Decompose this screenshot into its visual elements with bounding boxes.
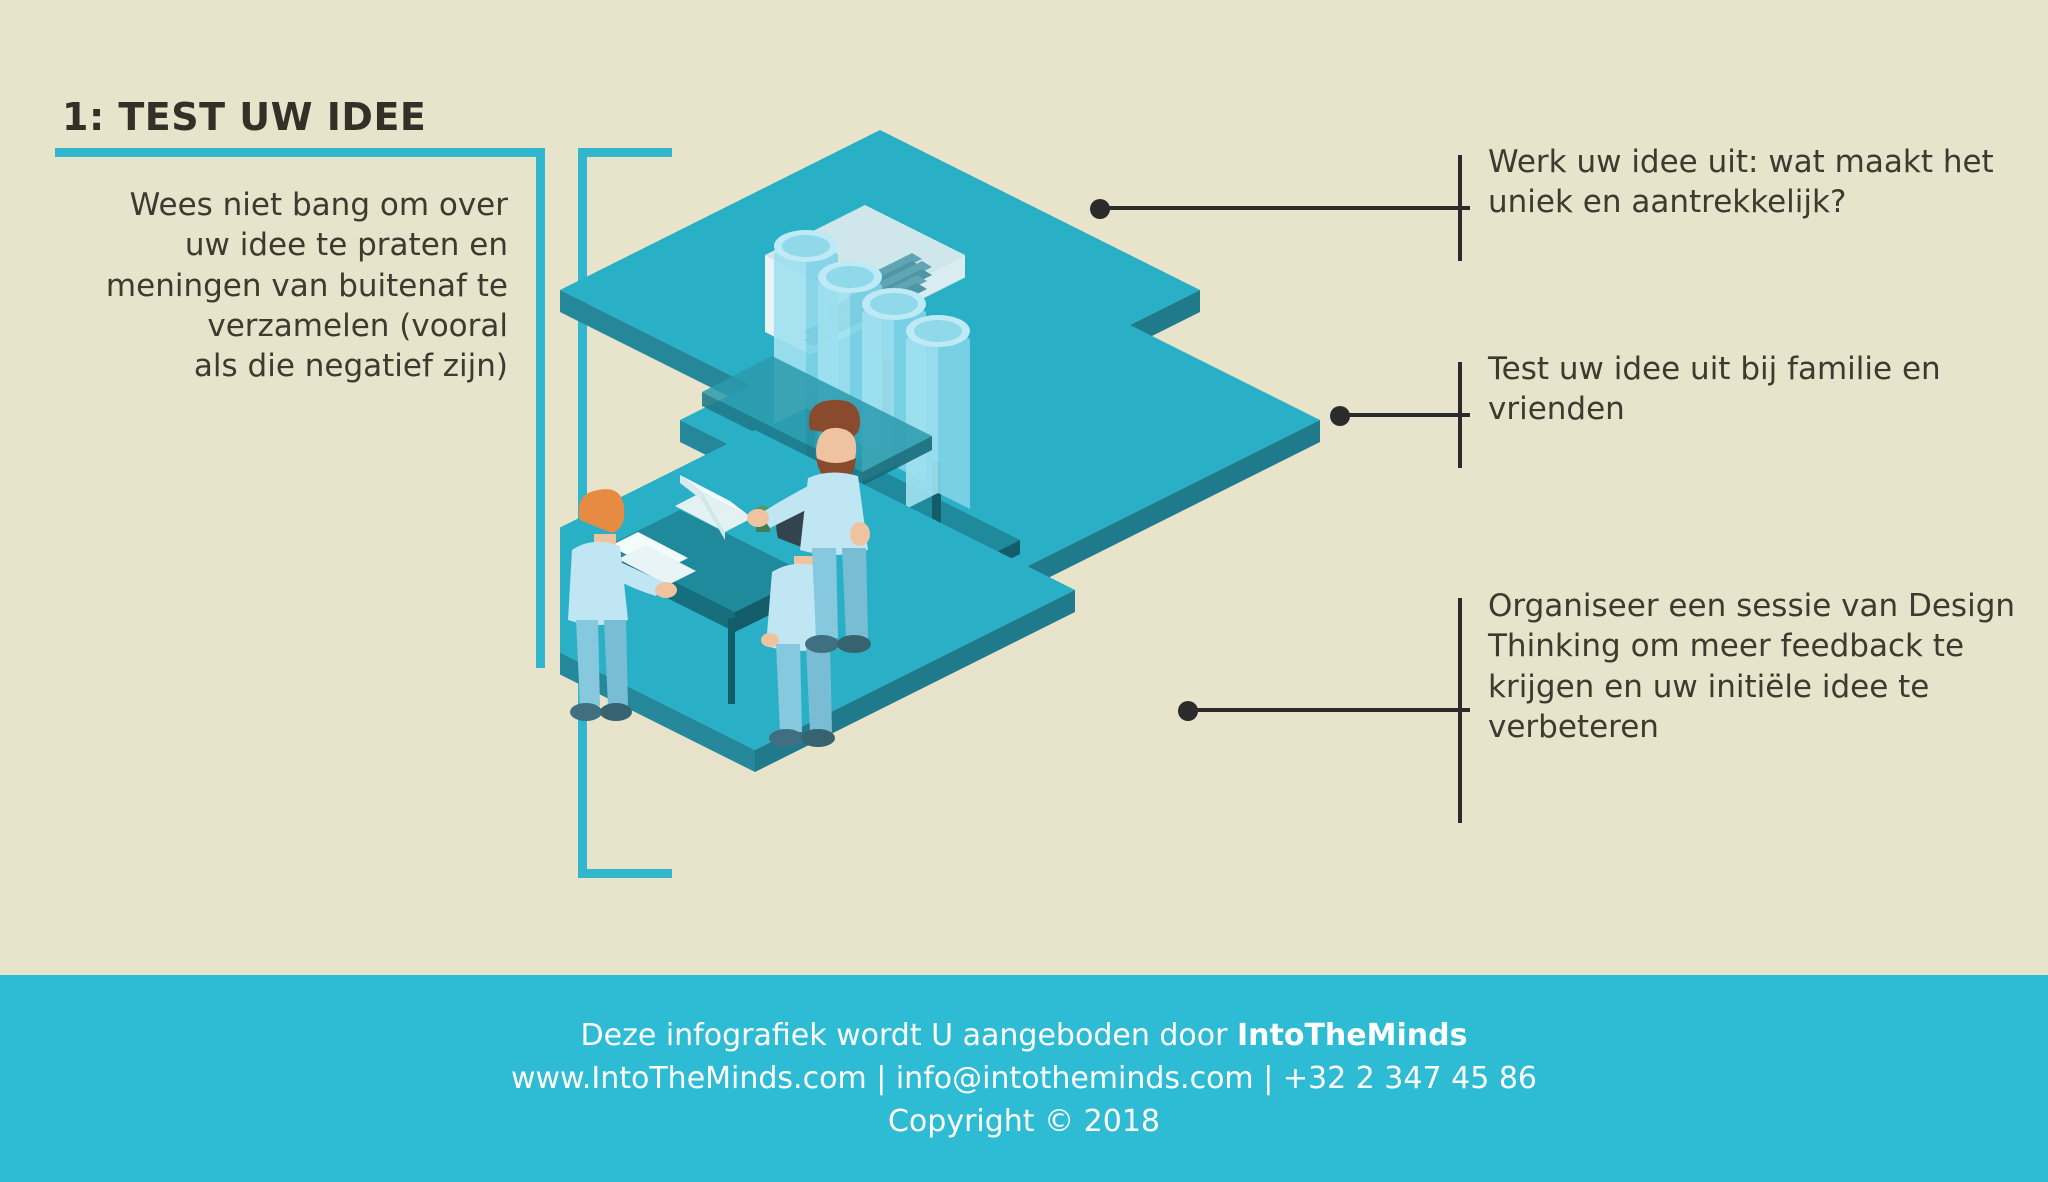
isometric-illustration [560, 120, 1460, 880]
footer-band: Deze infografiek wordt U aangeboden door… [0, 975, 2048, 1182]
callout-2-leader-line [1340, 413, 1470, 417]
bracket-left-top-rule [55, 148, 545, 157]
callout-3-leader-line [1188, 708, 1470, 712]
callout-2-text: Test uw idee uit bij familie en vrienden [1488, 349, 2048, 430]
callout-3-vertical-rule [1458, 598, 1462, 823]
infographic-canvas: 1: TEST UW IDEE Wees niet bang om over u… [0, 0, 2048, 1182]
footer-copyright-line: Copyright © 2018 [888, 1104, 1160, 1139]
callout-1-text: Werk uw idee uit: wat maakt het uniek en… [1488, 142, 2048, 223]
test-tube-4 [906, 315, 970, 509]
footer-credit-line: Deze infografiek wordt U aangeboden door… [581, 1018, 1468, 1053]
bracket-left-vertical [536, 148, 545, 668]
footer-credit-prefix: Deze infografiek wordt U aangeboden door [581, 1018, 1237, 1053]
footer-contact-line[interactable]: www.IntoTheMinds.com | info@intotheminds… [511, 1061, 1537, 1096]
callout-3-text: Organiseer een sessie van Design Thinkin… [1488, 586, 2048, 747]
callout-2-vertical-rule [1458, 362, 1462, 468]
callout-1-vertical-rule [1458, 155, 1462, 261]
footer-brand-name: IntoTheMinds [1237, 1018, 1467, 1053]
callout-1-leader-line [1100, 206, 1470, 210]
left-note-text: Wees niet bang om over uw idee te praten… [68, 185, 508, 386]
page-title: 1: TEST UW IDEE [62, 95, 426, 139]
